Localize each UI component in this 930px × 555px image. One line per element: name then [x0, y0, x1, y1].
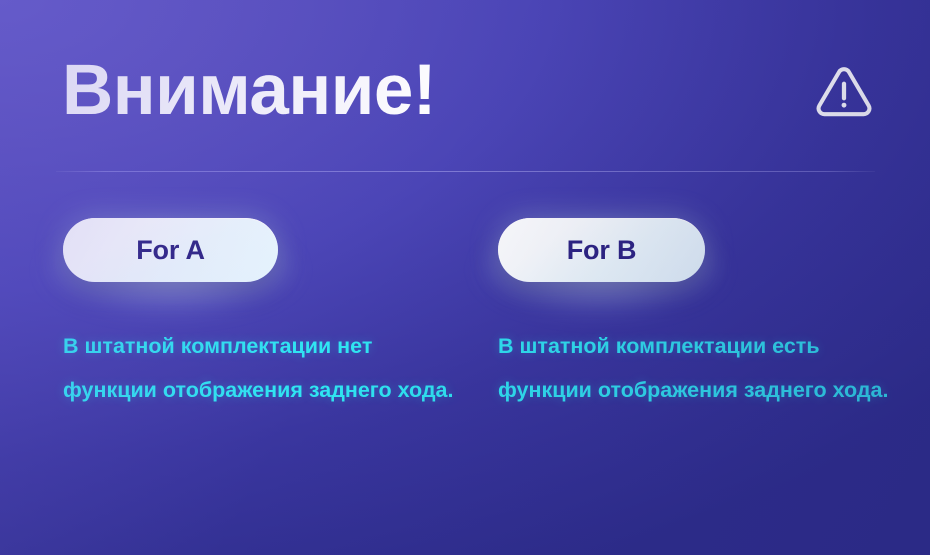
option-column-a: For A В штатной комплектации нет функции… — [63, 218, 463, 412]
option-b-description: В штатной комплектации есть функции отоб… — [498, 296, 890, 412]
option-column-b: For B В штатной комплектации есть функци… — [498, 218, 898, 412]
pill-wrapper-b: For B — [498, 218, 898, 296]
header-divider — [56, 171, 875, 172]
for-b-button-label: For B — [567, 237, 637, 264]
option-a-description: В штатной комплектации нет функции отобр… — [63, 296, 455, 412]
for-a-button-label: For A — [136, 237, 205, 264]
page-title: Внимание! — [62, 52, 436, 130]
for-a-button[interactable]: For A — [63, 218, 278, 282]
warning-triangle-icon — [813, 60, 875, 122]
pill-wrapper-a: For A — [63, 218, 463, 296]
warning-slide: Внимание! For A В штатной комплектации н… — [0, 0, 930, 555]
slide-header: Внимание! — [62, 52, 875, 130]
for-b-button[interactable]: For B — [498, 218, 705, 282]
